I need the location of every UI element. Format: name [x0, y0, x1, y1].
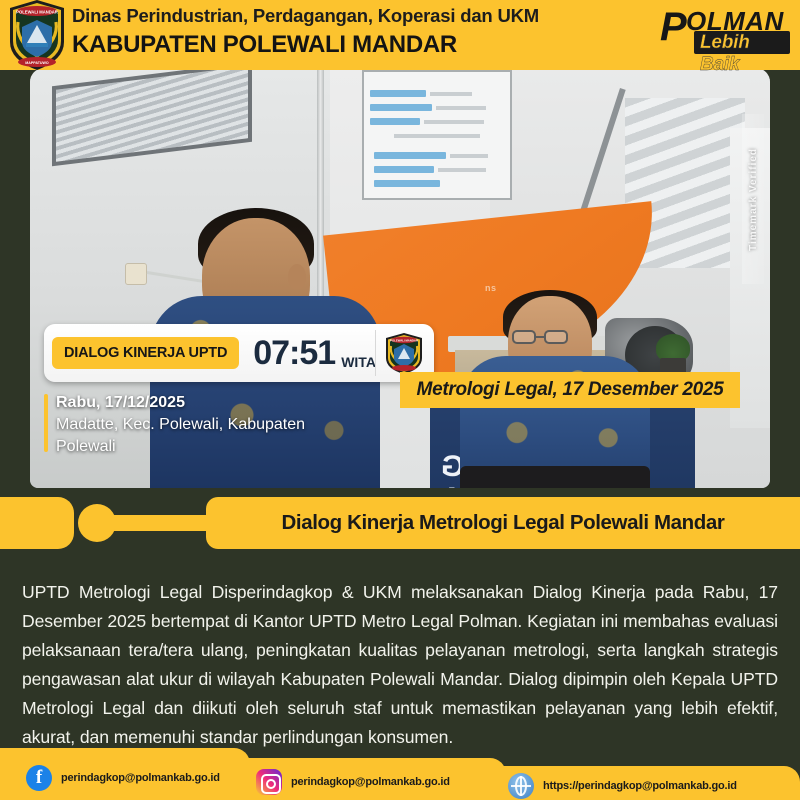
globe-icon	[508, 773, 534, 799]
title-ribbon: Dialog Kinerja Metrologi Legal Polewali …	[0, 497, 800, 549]
facebook-handle: perindagkop@polmankab.go.id	[61, 772, 220, 784]
timemark-timestamp-card: DIALOG KINERJA UPTD 07:51 WITA POLEWALI …	[44, 324, 434, 382]
timemark-time: 07:51	[253, 336, 335, 370]
event-photo: ns REPUBLIK INDONESIA TIMBANG UKUR ULA D…	[30, 68, 770, 488]
org-chart-board	[362, 70, 512, 200]
instagram-handle: perindagkop@polmankab.go.id	[291, 776, 450, 788]
timemark-crest-icon: POLEWALI MANDAR	[382, 331, 426, 375]
timemark-divider	[375, 330, 376, 376]
page-header: POLEWALI MANDAR MAPPATUWO Dinas Perindus…	[0, 0, 800, 70]
timemark-location: Madatte, Kec. Polewali, Kabupaten Polewa…	[56, 414, 356, 458]
page-title: KABUPATEN POLEWALI MANDAR	[72, 30, 539, 60]
photo-caption-label: Metrologi Legal, 17 Desember 2025	[417, 379, 724, 401]
ribbon-left-block	[0, 497, 74, 549]
wall-socket	[125, 263, 147, 285]
poster-canvas: POLEWALI MANDAR MAPPATUWO Dinas Perindus…	[0, 0, 800, 800]
timemark-timezone: WITA	[341, 354, 376, 370]
footer-instagram[interactable]: perindagkop@polmankab.go.id	[256, 769, 450, 795]
svg-text:MAPPATUWO: MAPPATUWO	[25, 61, 49, 65]
person-right-glasses-right-lens	[544, 330, 568, 344]
timemark-watermark-label: Timemark Verified	[748, 148, 759, 251]
person-right-lap	[460, 466, 650, 488]
header-line-1: Dinas Perindustrian, Perdagangan, Kopera…	[72, 4, 539, 28]
instagram-icon	[256, 769, 282, 795]
photo-caption-strip: Metrologi Legal, 17 Desember 2025	[400, 372, 740, 408]
article-title: Dialog Kinerja Metrologi Legal Polewali …	[282, 511, 725, 535]
header-title-group: Dinas Perindustrian, Perdagangan, Kopera…	[72, 4, 539, 60]
person-left-ear	[288, 264, 306, 290]
timemark-date: Rabu, 17/12/2025	[56, 392, 356, 414]
page-footer: f perindagkop@polmankab.go.id perindagko…	[0, 748, 800, 800]
regency-crest-icon: POLEWALI MANDAR MAPPATUWO	[6, 0, 68, 72]
footer-website[interactable]: https://perindagkop@polmankab.go.id	[508, 773, 737, 799]
polman-logo-letter: P	[660, 7, 685, 47]
ribbon-circle	[78, 504, 116, 542]
article-body: UPTD Metrologi Legal Disperindagkop & UK…	[22, 578, 778, 752]
ribbon-connector-bar	[112, 515, 212, 531]
timemark-activity-badge: DIALOG KINERJA UPTD	[52, 337, 239, 369]
ribbon-title-plate: Dialog Kinerja Metrologi Legal Polewali …	[206, 497, 800, 549]
person-right-glasses-left-lens	[512, 330, 536, 344]
timemark-watermark: Timemark Verified	[742, 114, 764, 284]
website-url: https://perindagkop@polmankab.go.id	[543, 780, 737, 792]
timemark-info: Rabu, 17/12/2025 Madatte, Kec. Polewali,…	[44, 392, 356, 458]
facebook-icon: f	[26, 765, 52, 791]
backdrop-text: ns	[485, 283, 497, 293]
polman-logo: P OLMAN Lebih Baik	[660, 5, 790, 57]
svg-text:POLEWALI MANDAR: POLEWALI MANDAR	[16, 9, 58, 14]
svg-text:POLEWALI MANDAR: POLEWALI MANDAR	[390, 338, 418, 342]
footer-facebook[interactable]: f perindagkop@polmankab.go.id	[26, 765, 220, 791]
person-right-glasses-bridge	[536, 336, 544, 338]
polman-logo-tagline: Lebih Baik	[700, 32, 790, 76]
